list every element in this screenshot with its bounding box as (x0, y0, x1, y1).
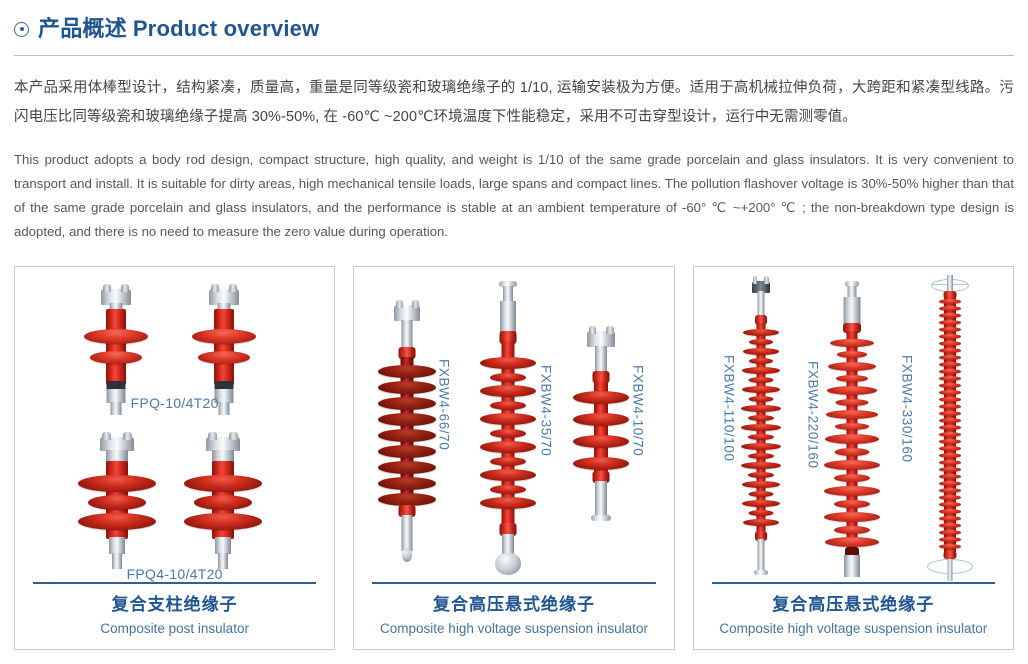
product-card-composite-hv-suspension-a[interactable]: FXBW4-66/70 (353, 266, 674, 650)
card-caption-cn: 复合高压悬式绝缘子 (712, 593, 995, 617)
card-caption: 复合高压悬式绝缘子 Composite high voltage suspens… (694, 582, 1013, 649)
model-label-fpq4-10-4t20: FPQ4-10/4T20 (15, 566, 334, 582)
model-label-fxbw4-110-100: FXBW4-110/100 (722, 355, 737, 462)
model-label-fxbw4-35-70: FXBW4-35/70 (538, 365, 553, 456)
model-label-fxbw4-66-70: FXBW4-66/70 (436, 359, 451, 450)
card-figure: FPQ-10/4T20 (15, 267, 334, 582)
insulator-fxbw4-10-70 (570, 329, 632, 527)
overview-paragraph-en: This product adopts a body rod design, c… (14, 148, 1014, 244)
page-header: 产品概述Product overview (0, 0, 1028, 46)
insulator-fxbw4-110-100 (738, 279, 784, 579)
product-card-composite-post-insulator[interactable]: FPQ-10/4T20 (14, 266, 335, 650)
card-figure: FXBW4-66/70 (354, 267, 673, 582)
card-caption-cn: 复合高压悬式绝缘子 (372, 593, 655, 617)
card-caption-en: Composite high voltage suspension insula… (712, 618, 995, 639)
card-caption: 复合高压悬式绝缘子 Composite high voltage suspens… (354, 582, 673, 649)
insulator-fxbw4-35-70 (476, 281, 540, 577)
product-card-composite-hv-suspension-b[interactable]: FXBW4-110/100 (693, 266, 1014, 650)
insulator-fxbw4-330-160 (920, 273, 980, 582)
caption-divider (372, 582, 655, 584)
overview-text-block: 本产品采用体棒型设计，结构紧凑，质量高，重量是同等级瓷和玻璃绝缘子的 1/10,… (0, 56, 1028, 244)
card-figure: FXBW4-110/100 (694, 267, 1013, 582)
insulator-fpq4-10-4t20-right (183, 433, 263, 569)
overview-paragraph-cn: 本产品采用体棒型设计，结构紧凑，质量高，重量是同等级瓷和玻璃绝缘子的 1/10,… (14, 74, 1014, 132)
card-caption-en: Composite high voltage suspension insula… (372, 618, 655, 639)
page-title: 产品概述Product overview (38, 18, 319, 40)
circle-dot-icon (14, 22, 29, 37)
caption-divider (712, 582, 995, 584)
model-label-fxbw4-220-160: FXBW4-220/160 (806, 361, 821, 469)
caption-divider (33, 582, 316, 584)
model-label-fxbw4-10-70: FXBW4-10/70 (630, 365, 645, 456)
card-caption: 复合支柱绝缘子 Composite post insulator (15, 582, 334, 649)
card-caption-en: Composite post insulator (33, 618, 316, 639)
card-caption-cn: 复合支柱绝缘子 (33, 593, 316, 617)
model-label-fpq-10-4t20: FPQ-10/4T20 (15, 395, 334, 411)
insulator-fxbw4-220-160 (822, 281, 882, 577)
page-title-en: Product overview (133, 16, 320, 41)
insulator-fxbw4-66-70 (376, 303, 438, 565)
product-cards-row: FPQ-10/4T20 (14, 266, 1014, 650)
model-label-fxbw4-330-160: FXBW4-330/160 (900, 355, 915, 463)
page-title-cn: 产品概述 (38, 16, 127, 41)
insulator-fpq4-10-4t20-left (77, 433, 157, 569)
